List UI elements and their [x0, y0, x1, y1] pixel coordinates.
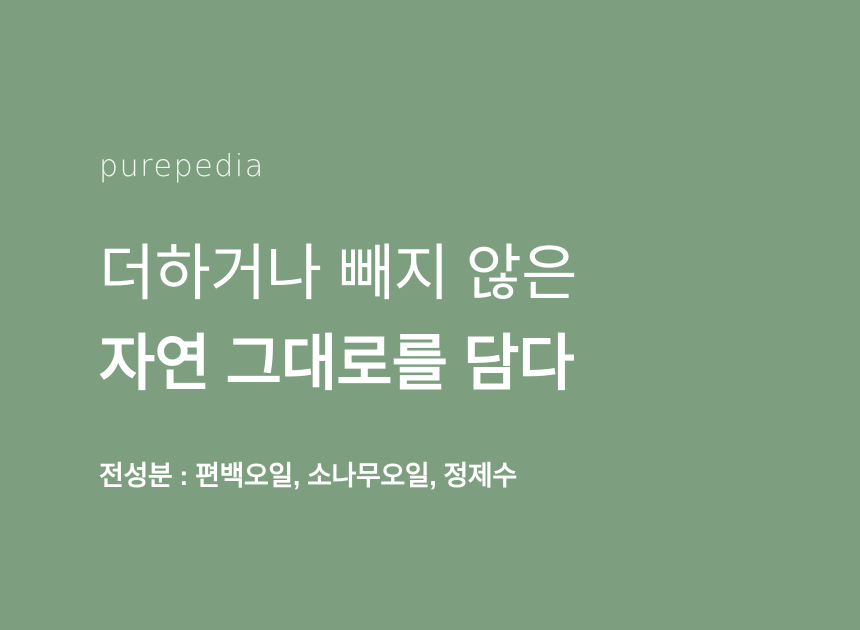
- banner-content: purepedia 더하거나 빼지 않은 자연 그대로를 담다 전성분 : 편백…: [99, 0, 799, 630]
- ingredients-caption: 전성분 : 편백오일, 소나무오일, 정제수: [99, 456, 517, 496]
- headline-line-1: 더하거나 빼지 않은: [99, 228, 799, 318]
- headline: 더하거나 빼지 않은 자연 그대로를 담다: [99, 228, 799, 408]
- headline-line-2: 자연 그대로를 담다: [99, 318, 799, 408]
- promo-banner: purepedia 더하거나 빼지 않은 자연 그대로를 담다 전성분 : 편백…: [0, 0, 860, 630]
- brand-logo: purepedia: [99, 152, 265, 182]
